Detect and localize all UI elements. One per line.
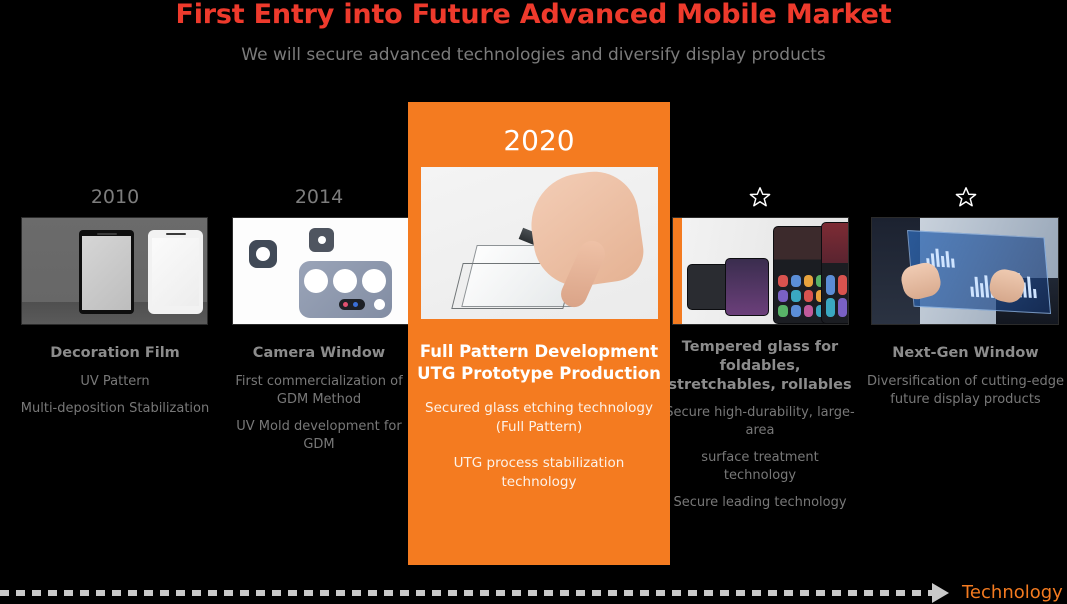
body-line: UV Mold development for GDM: [228, 418, 410, 454]
year-label-2020: 2020: [408, 125, 670, 157]
highlight-card-2020: 2020 Full Pattern Development UTG Protot…: [408, 102, 670, 565]
dashed-timeline-line: [0, 590, 937, 596]
body-line: Secure leading technology: [665, 494, 855, 512]
year-label-2010: 2010: [10, 186, 220, 208]
column-title-decoration-film: Decoration Film: [10, 344, 220, 363]
highlight-card-body: Secured glass etching technology (Full P…: [420, 399, 658, 509]
timeline-axis: Technology: [0, 583, 1067, 604]
column-body-2014: First commercialization of GDM Method UV…: [228, 373, 410, 463]
highlight-card-title: Full Pattern Development UTG Prototype P…: [416, 341, 662, 385]
hand-bending-ultra-thin-glass-photo: [421, 167, 658, 319]
body-line: UV Pattern: [10, 373, 220, 391]
transparent-display-panel-photo: [871, 217, 1059, 325]
year-label-2014: 2014: [228, 186, 410, 208]
column-body-next-gen: Diversification of cutting-edge future d…: [862, 373, 1067, 418]
body-line: Secure high-durability, large-area: [665, 404, 855, 440]
column-title-next-gen-window: Next-Gen Window: [862, 344, 1067, 363]
timeline-column-2010: 2010 Decoration Film UV Pattern Multi-de…: [10, 0, 220, 604]
body-line: Multi-deposition Stabilization: [10, 400, 220, 418]
timeline-column-next-gen-window: Next-Gen Window Diversification of cutti…: [862, 0, 1067, 604]
body-line: Diversification of cutting-edge future d…: [862, 373, 1067, 409]
timeline-column-foldables: Tempered glass for foldables, stretchabl…: [665, 0, 855, 604]
column-body-foldables: Secure high-durability, large-area surfa…: [665, 404, 855, 521]
star-icon: [665, 186, 855, 208]
body-line: surface treatment technology: [665, 449, 855, 485]
camera-window-modules-photo: [232, 217, 410, 325]
timeline-column-2014: 2014 Camera Window First commercializati…: [228, 0, 410, 604]
highlight-title-line-2: UTG Prototype Production: [416, 363, 662, 385]
column-body-2010: UV Pattern Multi-deposition Stabilizatio…: [10, 373, 220, 427]
arrow-right-icon: [932, 583, 949, 603]
body-line: UTG process stabilization technology: [420, 454, 658, 492]
highlight-title-line-1: Full Pattern Development: [416, 341, 662, 363]
foldable-phones-photo: [672, 217, 849, 325]
column-title-camera-window: Camera Window: [228, 344, 410, 363]
two-smartphones-photo: [21, 217, 208, 325]
column-title-tempered-glass: Tempered glass for foldables, stretchabl…: [665, 338, 855, 395]
body-line: First commercialization of GDM Method: [228, 373, 410, 409]
timeline-axis-label: Technology: [962, 582, 1063, 604]
body-line: Secured glass etching technology (Full P…: [420, 399, 658, 437]
star-icon: [862, 186, 1067, 208]
